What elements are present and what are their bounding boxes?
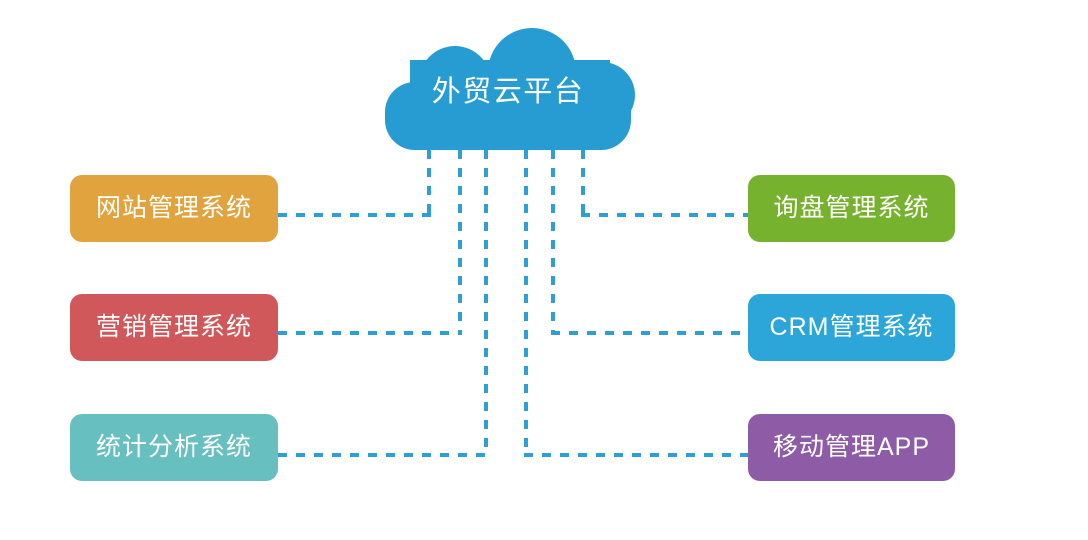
- node-website-management[interactable]: 网站管理系统: [70, 175, 278, 242]
- node-label-mobile-management-app: 移动管理APP: [773, 435, 930, 460]
- node-label-marketing-management: 营销管理系统: [96, 315, 252, 340]
- diagram-canvas: 外贸云平台 网站管理系统 营销管理系统 统计分析系统 询盘管理系统 CRM管理系…: [0, 0, 1088, 540]
- node-label-website-management: 网站管理系统: [96, 196, 252, 221]
- connector-branches-left: [278, 215, 488, 455]
- node-marketing-management[interactable]: 营销管理系统: [70, 294, 278, 361]
- node-statistics-analysis[interactable]: 统计分析系统: [70, 414, 278, 481]
- node-mobile-management-app[interactable]: 移动管理APP: [748, 414, 955, 481]
- node-label-statistics-analysis: 统计分析系统: [96, 435, 252, 460]
- node-crm-management[interactable]: CRM管理系统: [748, 294, 955, 361]
- cloud-platform-title: 外贸云平台: [385, 78, 631, 107]
- connector-trunks: [429, 150, 583, 455]
- connector-branches-right: [524, 215, 748, 455]
- node-label-crm-management: CRM管理系统: [770, 315, 934, 340]
- node-label-inquiry-management: 询盘管理系统: [773, 196, 929, 221]
- node-inquiry-management[interactable]: 询盘管理系统: [748, 175, 955, 242]
